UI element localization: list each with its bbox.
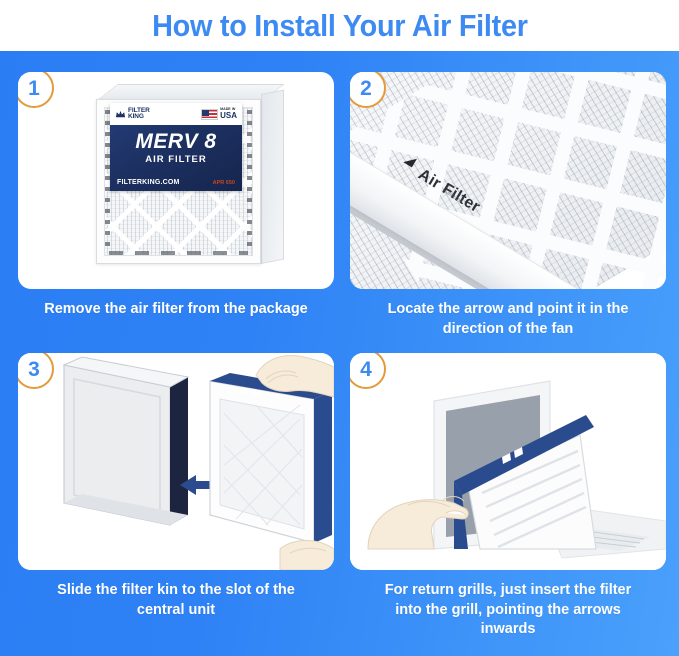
usa-flag-icon: [201, 109, 218, 120]
step-card-2: Air Filter AIRFLOW 2 Locate the arrow an…: [350, 72, 666, 355]
filter-panel-graphic: [210, 373, 332, 543]
return-grille-illustration: [350, 353, 666, 570]
step-4-image-card: 4: [350, 353, 666, 570]
step-caption-2: Locate the arrow and point it in the dir…: [350, 300, 666, 339]
brand-line-2: KING: [128, 114, 150, 121]
product-label-header: FILTER KING MADE IN USA: [110, 103, 242, 125]
step-caption-3: Slide the filter kin to the slot of the …: [18, 581, 334, 620]
step-card-1: FILTER KING MADE IN USA: [18, 72, 334, 355]
step-caption-4-line-1: For return grills, just insert the filte…: [358, 581, 658, 601]
step-card-3: 3 Slide the filter kin to the slot of th…: [18, 353, 334, 653]
hand-bottom-graphic: [280, 541, 334, 570]
website-text: FILTERKING.COM: [117, 179, 180, 186]
merv-rating: MERV 8: [110, 131, 242, 152]
usa-label: USA: [220, 112, 237, 120]
apr-rating-text: APR 650: [213, 180, 235, 186]
page-title: How to Install Your Air Filter: [152, 8, 528, 44]
header-band: How to Install Your Air Filter: [0, 0, 679, 51]
filter-frame-closeup-photo: Air Filter AIRFLOW: [350, 72, 666, 289]
slide-filter-illustration: [18, 353, 334, 570]
air-filter-product-photo: FILTER KING MADE IN USA: [18, 72, 334, 289]
filter-front-face: FILTER KING MADE IN USA: [96, 99, 261, 264]
brand-text-block: FILTER KING: [128, 108, 150, 121]
product-label-footer: FILTERKING.COM APR 650: [117, 179, 235, 186]
return-grille-svg: [350, 353, 666, 570]
slide-filter-svg: [18, 353, 334, 570]
step-caption-2-line-2: direction of the fan: [358, 320, 658, 340]
step-caption-1: Remove the air filter from the package: [18, 300, 334, 320]
filter-side-face: [261, 90, 284, 264]
crown-icon: [115, 109, 126, 120]
step-caption-4-line-3: inwards: [358, 620, 658, 640]
made-in-usa-text: MADE IN USA: [220, 108, 237, 120]
filter-king-logo: FILTER KING: [115, 108, 150, 121]
step-caption-2-line-1: Locate the arrow and point it in the: [358, 300, 658, 320]
step-3-image-card: 3: [18, 353, 334, 570]
step-caption-3-line-1: Slide the filter kin to the slot of the: [26, 581, 326, 601]
central-unit-graphic: [64, 357, 188, 525]
step-caption-3-line-2: central unit: [26, 601, 326, 621]
step-1-image-card: FILTER KING MADE IN USA: [18, 72, 334, 289]
step-caption-4: For return grills, just insert the filte…: [350, 581, 666, 640]
product-label: FILTER KING MADE IN USA: [110, 103, 242, 191]
steps-grid: FILTER KING MADE IN USA: [0, 51, 679, 656]
step-2-image-card: Air Filter AIRFLOW 2: [350, 72, 666, 289]
air-filter-subtitle: AIR FILTER: [110, 154, 242, 165]
step-card-4: 4 For return grills, just insert the fil…: [350, 353, 666, 653]
step-caption-4-line-2: into the grill, pointing the arrows: [358, 601, 658, 621]
made-in-usa-badge: MADE IN USA: [201, 108, 237, 120]
